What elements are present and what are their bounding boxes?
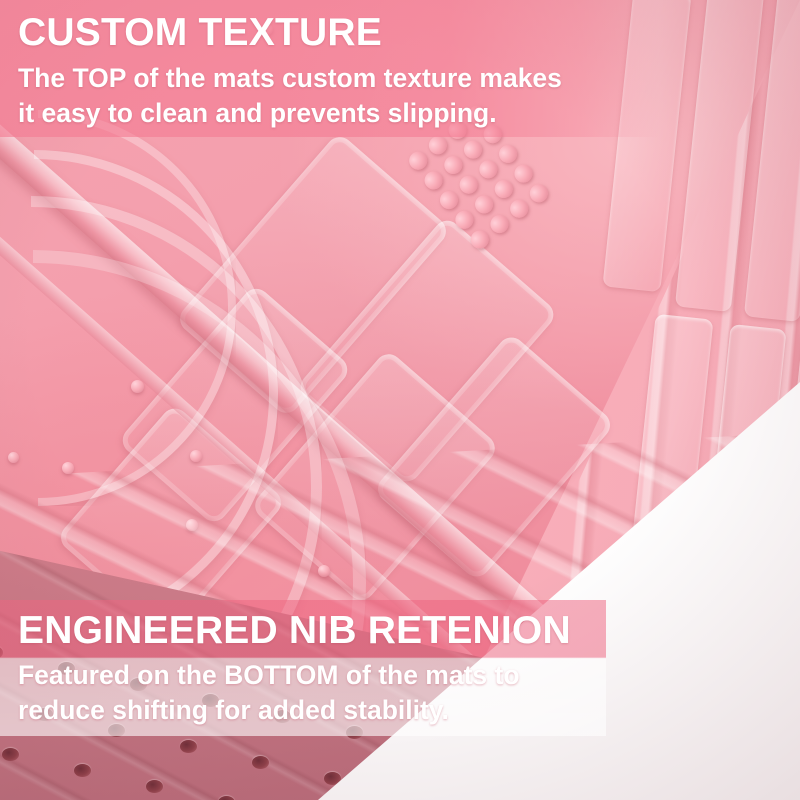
bottom-banner-headline: ENGINEERED NIB RETENION (18, 611, 606, 650)
mat-nib (62, 462, 74, 474)
mat-nib-hole (252, 756, 269, 769)
top-feature-banner: CUSTOM TEXTURE The TOP of the mats custo… (0, 0, 660, 137)
bottom-banner-subline-1: Featured on the BOTTOM of the mats to (18, 658, 606, 693)
mat-nib-hole (74, 764, 91, 777)
mat-nib-hole (180, 740, 197, 753)
top-banner-subline-1: The TOP of the mats custom texture makes (18, 61, 660, 96)
mat-stud (456, 172, 481, 197)
bottom-feature-banner: ENGINEERED NIB RETENION Featured on the … (0, 600, 606, 736)
mat-nib (190, 450, 202, 462)
mat-stud (460, 137, 485, 162)
mat-stud (441, 152, 466, 177)
mat-stud (471, 192, 496, 217)
top-banner-subline-2: it easy to clean and prevents slipping. (18, 96, 660, 131)
mat-stud (476, 157, 501, 182)
top-banner-headline: CUSTOM TEXTURE (18, 13, 660, 52)
mat-nib (8, 452, 19, 463)
mat-nib (131, 380, 144, 393)
bottom-banner-subline-2: reduce shifting for added stability. (18, 693, 606, 728)
mat-nib-hole (2, 748, 19, 761)
product-feature-image: CUSTOM TEXTURE The TOP of the mats custo… (0, 0, 800, 800)
mat-nib-hole (218, 796, 235, 800)
mat-stud (491, 176, 516, 201)
mat-nib-hole (146, 780, 163, 793)
